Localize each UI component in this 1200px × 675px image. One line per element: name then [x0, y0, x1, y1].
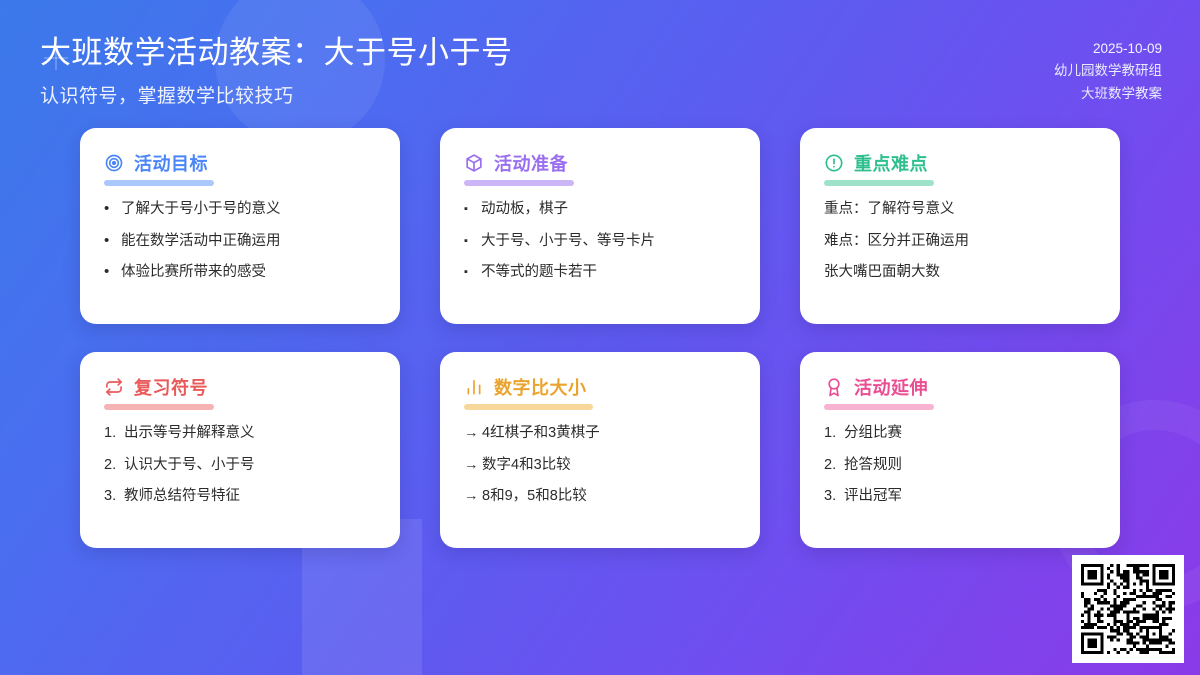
list-marker: 1.: [824, 423, 844, 444]
card-body: 1.分组比赛2.抢答规则3.评出冠军: [824, 423, 1096, 507]
repeat-icon: [104, 377, 124, 397]
list-marker: →: [464, 486, 482, 507]
card-body: →4红棋子和3黄棋子→数字4和3比较→8和9，5和8比较: [464, 423, 736, 507]
list-item-text: 张大嘴巴面朝大数: [824, 262, 1096, 283]
card-compare-numbers[interactable]: 数字比大小→4红棋子和3黄棋子→数字4和3比较→8和9，5和8比较: [440, 352, 760, 548]
list-item-text: 体验比赛所带来的感受: [121, 262, 376, 283]
bar-chart-icon: [464, 377, 484, 397]
list-marker: ▪: [464, 231, 481, 251]
alert-circle-icon: [824, 153, 844, 173]
list-marker: →: [464, 423, 482, 444]
list-item: →4红棋子和3黄棋子: [464, 423, 736, 444]
list-item-text: 难点：区分并正确运用: [824, 231, 1096, 252]
list-marker: 1.: [104, 423, 124, 444]
list-item-text: 抢答规则: [844, 455, 1096, 476]
list-item: •能在数学活动中正确运用: [104, 231, 376, 252]
list-marker: 2.: [104, 455, 124, 476]
list-item: →数字4和3比较: [464, 455, 736, 476]
header-title-block: 大班数学活动教案：大于号小于号 认识符号，掌握数学比较技巧: [40, 34, 513, 108]
list-item-text: 能在数学活动中正确运用: [121, 231, 376, 252]
card-body: •了解大于号小于号的意义•能在数学活动中正确运用•体验比赛所带来的感受: [104, 199, 376, 283]
list-marker: 3.: [104, 486, 124, 507]
list-item: 1.出示等号并解释意义: [104, 423, 376, 444]
list-item: 张大嘴巴面朝大数: [824, 262, 1096, 283]
page-subtitle: 认识符号，掌握数学比较技巧: [40, 81, 513, 108]
list-marker: 3.: [824, 486, 844, 507]
qr-code-container[interactable]: [1072, 555, 1184, 663]
list-item: ▪动动板，棋子: [464, 199, 736, 220]
list-item-text: 动动板，棋子: [481, 199, 736, 220]
award-icon: [824, 377, 844, 397]
list-marker: ▪: [464, 262, 481, 282]
title-underline: [824, 180, 934, 186]
header-meta-block: 2025-10-09 幼儿园数学教研组 大班数学教案: [1054, 38, 1162, 105]
card-title: 活动目标: [134, 150, 208, 176]
list-marker: •: [104, 199, 121, 219]
title-underline: [464, 404, 593, 410]
list-marker: →: [464, 455, 482, 476]
list-item: 3.评出冠军: [824, 486, 1096, 507]
card-title: 数字比大小: [494, 374, 587, 400]
list-item: 2.认识大于号、小于号: [104, 455, 376, 476]
card-title: 活动延伸: [854, 374, 928, 400]
list-item: 2.抢答规则: [824, 455, 1096, 476]
card-body: 1.出示等号并解释意义2.认识大于号、小于号3.教师总结符号特征: [104, 423, 376, 507]
title-underline: [464, 180, 574, 186]
box-icon: [464, 153, 484, 173]
list-item-text: 重点：了解符号意义: [824, 199, 1096, 220]
card-activity-goals[interactable]: 活动目标•了解大于号小于号的意义•能在数学活动中正确运用•体验比赛所带来的感受: [80, 128, 400, 324]
list-marker: •: [104, 262, 121, 282]
card-title: 重点难点: [854, 150, 928, 176]
card-header: 活动延伸: [824, 374, 1096, 400]
list-item: 1.分组比赛: [824, 423, 1096, 444]
list-item-text: 大于号、小于号、等号卡片: [481, 231, 736, 252]
card-activity-preparation[interactable]: 活动准备▪动动板，棋子▪大于号、小于号、等号卡片▪不等式的题卡若干: [440, 128, 760, 324]
slide-header: 大班数学活动教案：大于号小于号 认识符号，掌握数学比较技巧 2025-10-09…: [0, 0, 1200, 120]
card-header: 重点难点: [824, 150, 1096, 176]
card-body: 重点：了解符号意义难点：区分并正确运用张大嘴巴面朝大数: [824, 199, 1096, 283]
target-icon: [104, 153, 124, 173]
list-item-text: 8和9，5和8比较: [482, 486, 736, 507]
list-marker: 2.: [824, 455, 844, 476]
page-title: 大班数学活动教案：大于号小于号: [40, 34, 513, 71]
list-item-text: 4红棋子和3黄棋子: [482, 423, 736, 444]
card-key-points[interactable]: 重点难点重点：了解符号意义难点：区分并正确运用张大嘴巴面朝大数: [800, 128, 1120, 324]
card-header: 数字比大小: [464, 374, 736, 400]
list-item: ▪不等式的题卡若干: [464, 262, 736, 283]
card-body: ▪动动板，棋子▪大于号、小于号、等号卡片▪不等式的题卡若干: [464, 199, 736, 283]
qr-code: [1081, 564, 1175, 654]
card-header: 活动目标: [104, 150, 376, 176]
card-title: 复习符号: [134, 374, 208, 400]
list-item: 3.教师总结符号特征: [104, 486, 376, 507]
list-item: 重点：了解符号意义: [824, 199, 1096, 220]
title-underline: [824, 404, 934, 410]
list-item-text: 分组比赛: [844, 423, 1096, 444]
list-item-text: 评出冠军: [844, 486, 1096, 507]
header-category: 大班数学教案: [1054, 83, 1162, 105]
list-item-text: 了解大于号小于号的意义: [121, 199, 376, 220]
list-item-text: 不等式的题卡若干: [481, 262, 736, 283]
list-item: •了解大于号小于号的意义: [104, 199, 376, 220]
list-item-text: 出示等号并解释意义: [124, 423, 376, 444]
list-marker: •: [104, 231, 121, 251]
title-underline: [104, 180, 214, 186]
list-item-text: 教师总结符号特征: [124, 486, 376, 507]
header-organization: 幼儿园数学教研组: [1054, 60, 1162, 82]
title-underline: [104, 404, 214, 410]
list-marker: ▪: [464, 199, 481, 219]
card-grid: 活动目标•了解大于号小于号的意义•能在数学活动中正确运用•体验比赛所带来的感受活…: [80, 128, 1120, 548]
list-item-text: 认识大于号、小于号: [124, 455, 376, 476]
list-item: 难点：区分并正确运用: [824, 231, 1096, 252]
card-review-symbols[interactable]: 复习符号1.出示等号并解释意义2.认识大于号、小于号3.教师总结符号特征: [80, 352, 400, 548]
card-header: 复习符号: [104, 374, 376, 400]
list-item: →8和9，5和8比较: [464, 486, 736, 507]
header-date: 2025-10-09: [1054, 38, 1162, 60]
list-item: •体验比赛所带来的感受: [104, 262, 376, 283]
card-title: 活动准备: [494, 150, 568, 176]
list-item-text: 数字4和3比较: [482, 455, 736, 476]
card-activity-extension[interactable]: 活动延伸1.分组比赛2.抢答规则3.评出冠军: [800, 352, 1120, 548]
card-header: 活动准备: [464, 150, 736, 176]
list-item: ▪大于号、小于号、等号卡片: [464, 231, 736, 252]
